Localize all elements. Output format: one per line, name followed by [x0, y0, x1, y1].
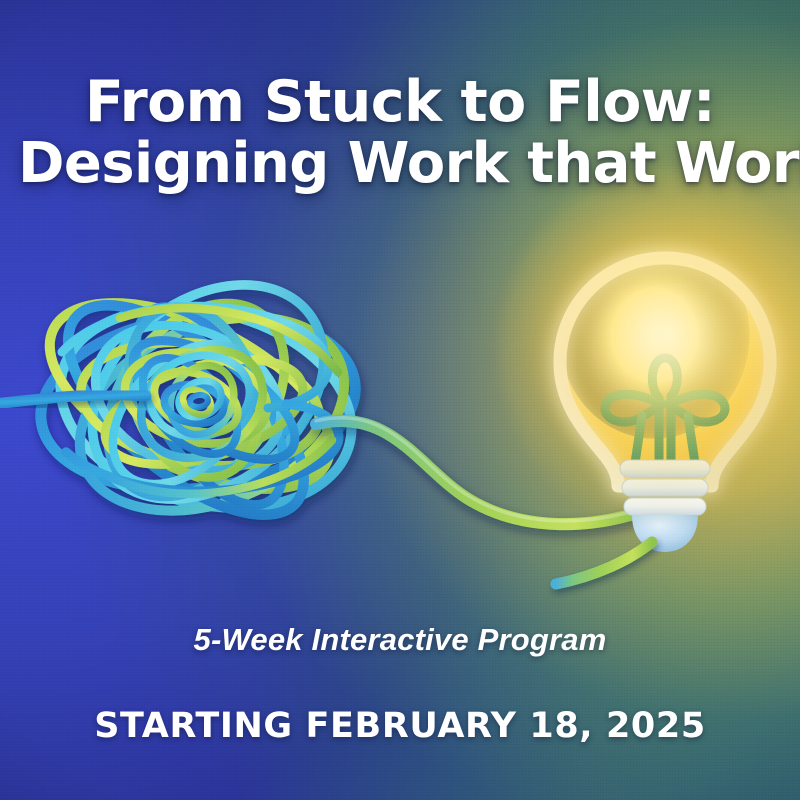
- text-layer: From Stuck to Flow: Designing Work that …: [0, 0, 800, 800]
- page-title: From Stuck to Flow: Designing Work that …: [0, 72, 800, 194]
- start-date: STARTING FEBRUARY 18, 2025: [0, 706, 800, 746]
- promo-poster: From Stuck to Flow: Designing Work that …: [0, 0, 800, 800]
- title-line-2: Designing Work that Works: [18, 134, 782, 194]
- program-subtitle: 5-Week Interactive Program: [0, 622, 800, 658]
- title-line-1: From Stuck to Flow:: [18, 72, 782, 134]
